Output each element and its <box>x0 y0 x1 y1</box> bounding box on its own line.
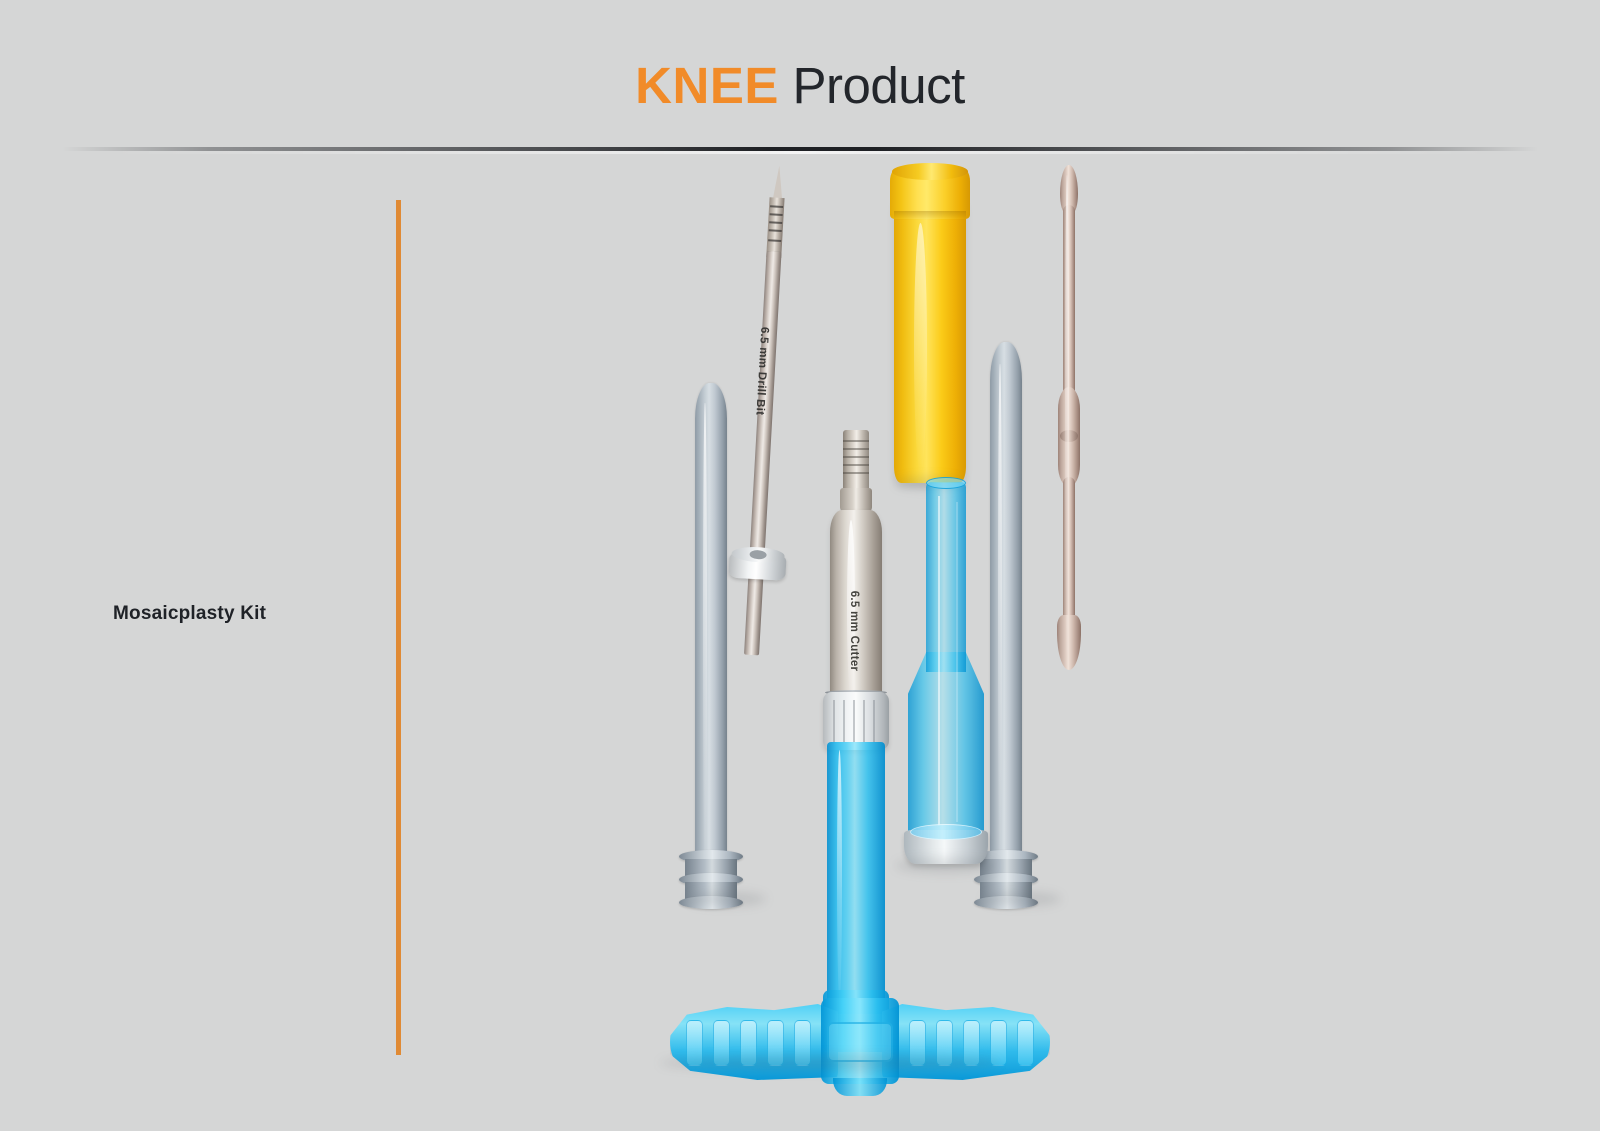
t-handle-foot <box>833 1078 887 1096</box>
t-handle-rib <box>990 1020 1007 1066</box>
vertical-accent-rule <box>396 200 401 1055</box>
yellow-sleeve-cap-shadow <box>894 211 966 220</box>
product-drill-bit: 6.5 mm Drill Bit <box>735 165 796 656</box>
page-header: KNEE Product <box>0 0 1600 150</box>
dilator-left-shaft <box>695 383 727 893</box>
cutter-t-handle <box>670 998 1050 1084</box>
cutter-shadow <box>660 1055 1000 1071</box>
cutter-collar-rib <box>833 700 835 742</box>
drill-bit-shaft <box>744 251 782 655</box>
product-image-stage: 6.5 mm Drill Bit <box>600 150 1220 1080</box>
drill-bit-stop-collar <box>728 546 787 583</box>
blue-sleeve-line <box>938 496 940 826</box>
page-title-rest: Product <box>779 57 965 114</box>
curette-mid-notch <box>1060 430 1078 442</box>
product-curette <box>1052 165 1086 670</box>
cutter-collar-rib <box>853 700 855 742</box>
blue-sleeve-neck <box>926 482 966 672</box>
cutter-knurl-ring <box>843 456 869 458</box>
cutter-handle-shaft <box>827 742 885 1014</box>
dilator-right-shaft <box>990 342 1022 892</box>
cutter-handle-highlight <box>837 750 842 1000</box>
product-dilator-right <box>990 342 1022 892</box>
cutter-label: 6.5 mm Cutter <box>848 566 860 696</box>
drill-bit-tip <box>772 165 784 202</box>
cutter-collar-rib <box>873 700 875 742</box>
curette-bottom-tip <box>1057 615 1081 670</box>
curette-highlight <box>1065 175 1069 655</box>
t-handle-rib <box>1017 1020 1034 1066</box>
product-dilator-left <box>695 383 727 893</box>
yellow-sleeve-cap-rim <box>892 163 968 180</box>
product-caption-label: Mosaicplasty Kit <box>113 603 266 625</box>
page-title-accent: KNEE <box>635 57 779 114</box>
dilator-left-shadow <box>688 892 766 906</box>
dilator-left-base <box>679 850 743 918</box>
dilator-right-shadow <box>983 892 1061 906</box>
cutter-collar-rib <box>863 700 865 742</box>
blue-sleeve-neck-rim <box>926 477 966 489</box>
blue-sleeve-line <box>956 502 958 822</box>
cutter-knurl-ring <box>843 464 869 466</box>
product-cutter: 6.5 mm Cutter <box>795 430 925 1070</box>
cutter-knurl-ring <box>843 448 869 450</box>
product-showcase-page: KNEE Product Mosaicplasty Kit <box>0 0 1600 1131</box>
cutter-knurl-ring <box>843 440 869 442</box>
cutter-collar-rib <box>843 700 845 742</box>
cutter-knurl-ring <box>843 472 869 474</box>
page-title: KNEE Product <box>0 56 1600 116</box>
